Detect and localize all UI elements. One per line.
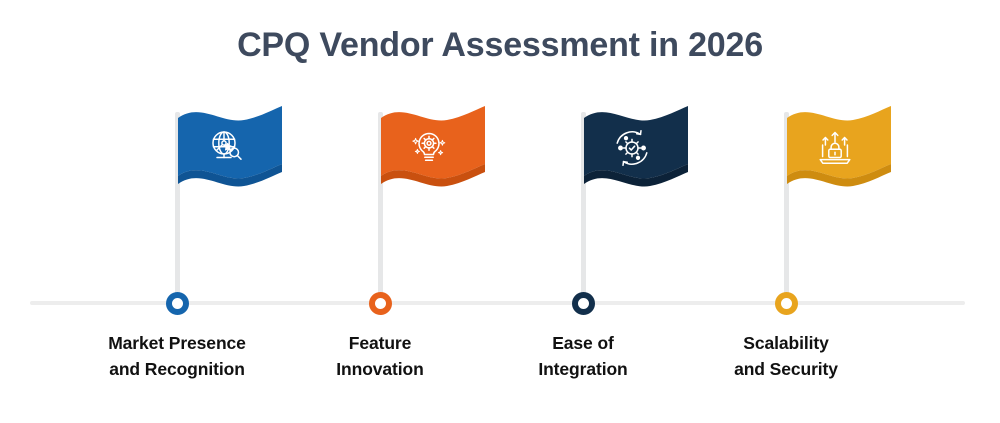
milestone-3[interactable]: Ease of Integration: [473, 0, 693, 423]
milestone-4[interactable]: Scalability and Security: [676, 0, 896, 423]
flag-banner: [787, 108, 891, 196]
milestone-label-line1: Scalability: [671, 330, 901, 356]
milestone-1[interactable]: Market Presence and Recognition: [67, 0, 287, 423]
milestone-label: Feature Innovation: [265, 330, 495, 382]
ring-marker[interactable]: [572, 292, 595, 315]
flag-body: [787, 106, 891, 178]
milestone-label: Ease of Integration: [468, 330, 698, 382]
flag-banner: [381, 108, 485, 196]
milestone-label-line2: and Security: [671, 356, 901, 382]
flag-banner: [584, 108, 688, 196]
flag-banner: [178, 108, 282, 196]
infographic-canvas: CPQ Vendor Assessment in 2026: [0, 0, 1000, 423]
ring-marker[interactable]: [369, 292, 392, 315]
ring-marker[interactable]: [166, 292, 189, 315]
flag-body: [178, 106, 282, 178]
milestone-label-line2: Integration: [468, 356, 698, 382]
milestone-2[interactable]: Feature Innovation: [270, 0, 490, 423]
milestone-label: Market Presence and Recognition: [62, 330, 292, 382]
milestone-label-line2: and Recognition: [62, 356, 292, 382]
milestone-label-line1: Market Presence: [62, 330, 292, 356]
ring-marker[interactable]: [775, 292, 798, 315]
milestone-label-line1: Feature: [265, 330, 495, 356]
flag-body: [381, 106, 485, 178]
milestone-label-line1: Ease of: [468, 330, 698, 356]
milestone-label: Scalability and Security: [671, 330, 901, 382]
flag-body: [584, 106, 688, 178]
milestone-label-line2: Innovation: [265, 356, 495, 382]
